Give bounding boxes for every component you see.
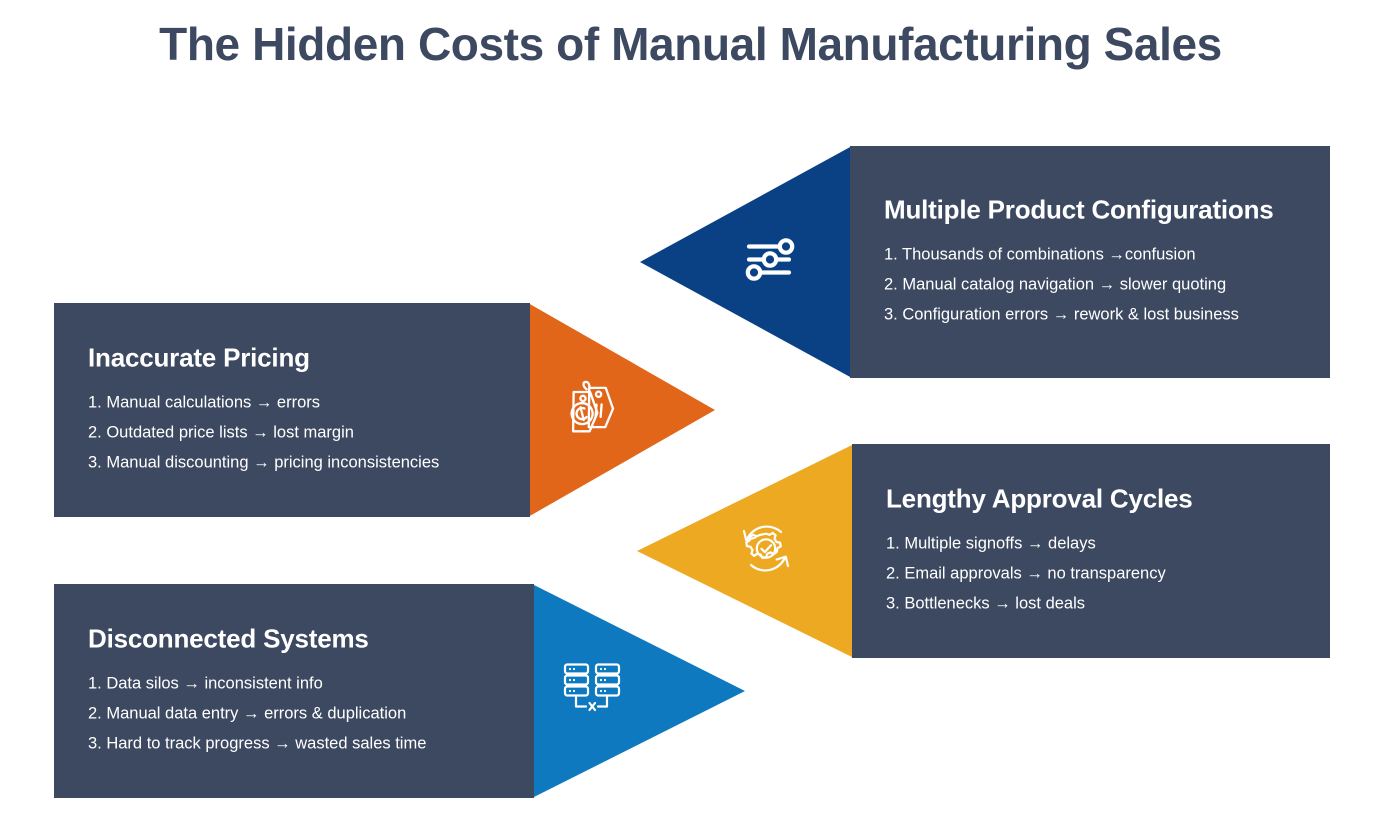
block-title-configurations: Multiple Product Configurations: [884, 194, 1296, 225]
block-list-systems: 1. Data silos → inconsistent info 2. Man…: [88, 669, 500, 759]
panel-systems: Disconnected Systems 1. Data silos → inc…: [54, 584, 534, 798]
callout-block-systems: Disconnected Systems 1. Data silos → inc…: [54, 584, 745, 798]
block-title-pricing: Inaccurate Pricing: [88, 342, 496, 373]
list-item: 1. Manual calculations → errors: [88, 388, 496, 418]
block-list-configurations: 1. Thousands of combinations →confusion …: [884, 240, 1296, 330]
list-item: 1. Multiple signoffs → delays: [886, 529, 1296, 559]
block-title-systems: Disconnected Systems: [88, 623, 500, 654]
list-item: 3. Hard to track progress → wasted sales…: [88, 729, 500, 759]
gear-check-refresh-icon: [734, 517, 798, 586]
list-item: 2. Outdated price lists → lost margin: [88, 418, 496, 448]
list-item: 3. Manual discounting → pricing inconsis…: [88, 448, 496, 478]
panel-pricing: Inaccurate Pricing 1. Manual calculation…: [54, 303, 530, 517]
page-title: The Hidden Costs of Manual Manufacturing…: [0, 18, 1381, 71]
list-item: 2. Manual data entry → errors & duplicat…: [88, 699, 500, 729]
callout-block-pricing: Inaccurate Pricing 1. Manual calculation…: [54, 303, 715, 517]
list-item: 1. Thousands of combinations →confusion: [884, 240, 1296, 270]
block-list-pricing: 1. Manual calculations → errors 2. Outda…: [88, 388, 496, 478]
panel-configurations: Multiple Product Configurations 1. Thous…: [850, 146, 1330, 378]
disconnected-servers-icon: [559, 658, 625, 725]
list-item: 3. Bottlenecks → lost deals: [886, 589, 1296, 619]
list-item: 3. Configuration errors → rework & lost …: [884, 300, 1296, 330]
list-item: 1. Data silos → inconsistent info: [88, 669, 500, 699]
block-title-approvals: Lengthy Approval Cycles: [886, 483, 1296, 514]
callout-block-configurations: Multiple Product Configurations 1. Thous…: [640, 146, 1330, 378]
sliders-icon: [736, 228, 800, 297]
block-list-approvals: 1. Multiple signoffs → delays 2. Email a…: [886, 529, 1296, 619]
list-item: 2. Manual catalog navigation → slower qu…: [884, 270, 1296, 300]
panel-approvals: Lengthy Approval Cycles 1. Multiple sign…: [852, 444, 1330, 658]
list-item: 2. Email approvals → no transparency: [886, 559, 1296, 589]
price-tags-icon: [556, 375, 622, 446]
